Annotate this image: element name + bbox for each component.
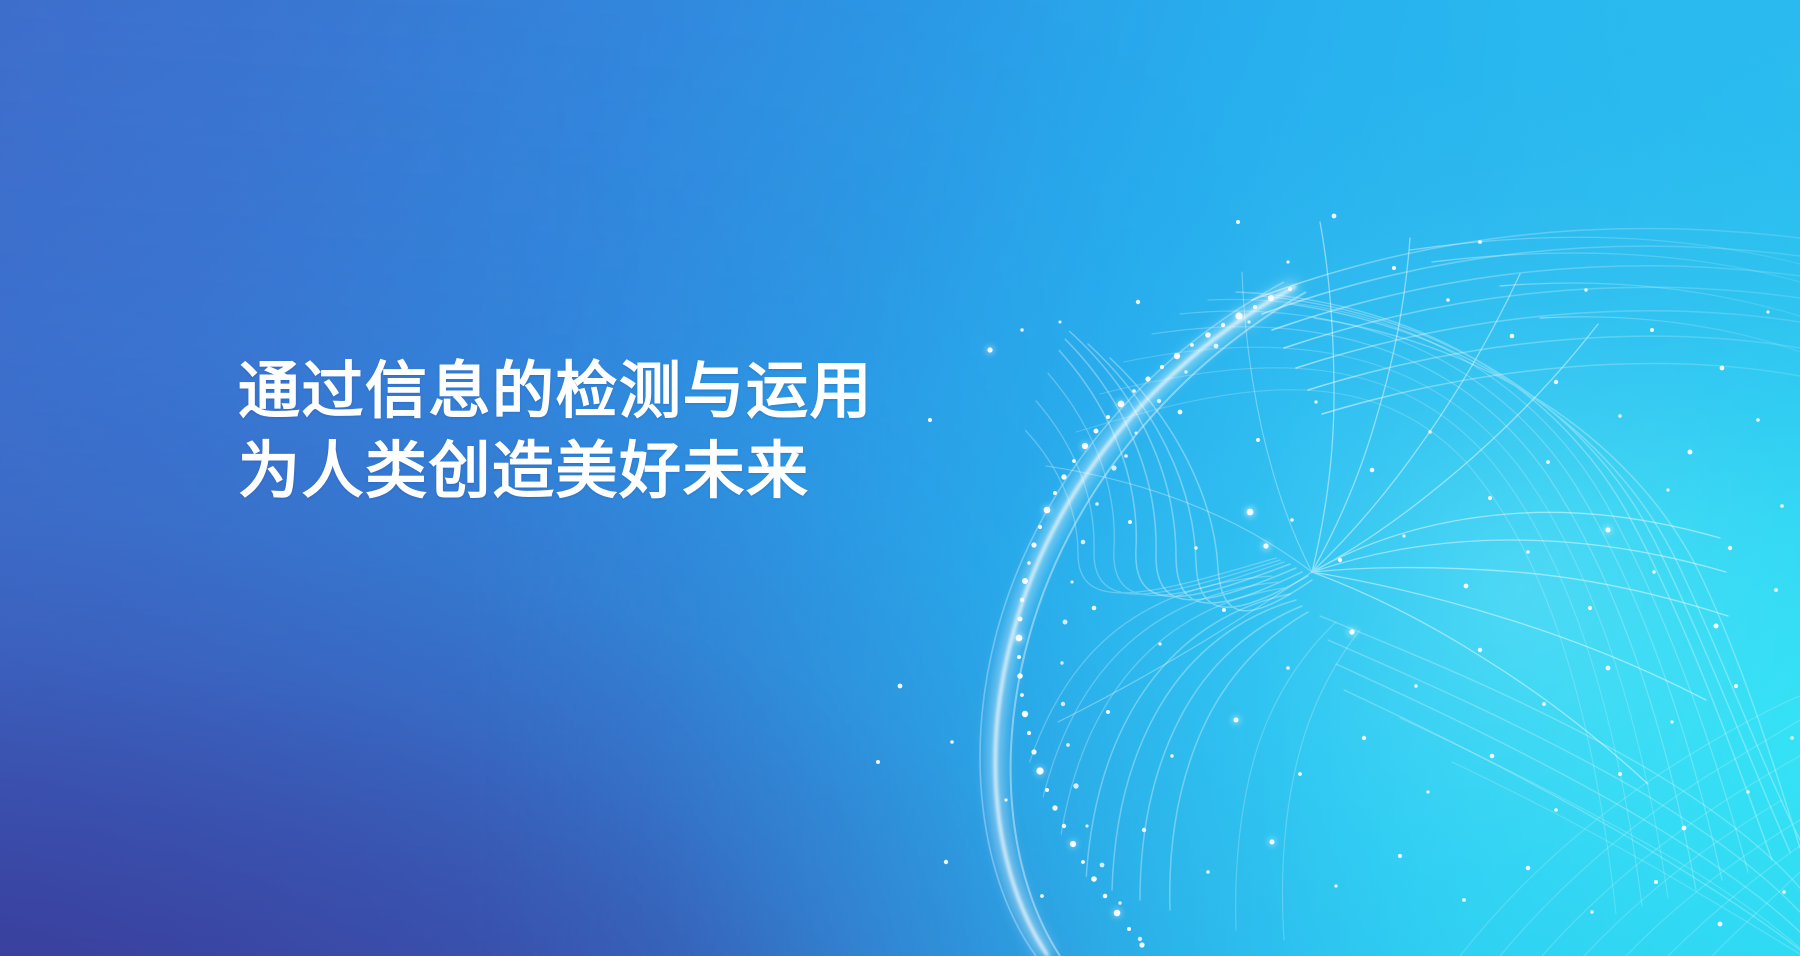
hero-banner: 通过信息的检测与运用 为人类创造美好未来 bbox=[0, 0, 1800, 956]
headline: 通过信息的检测与运用 为人类创造美好未来 bbox=[238, 352, 873, 512]
headline-line-2: 为人类创造美好未来 bbox=[238, 432, 873, 512]
headline-line-1: 通过信息的检测与运用 bbox=[238, 352, 873, 432]
